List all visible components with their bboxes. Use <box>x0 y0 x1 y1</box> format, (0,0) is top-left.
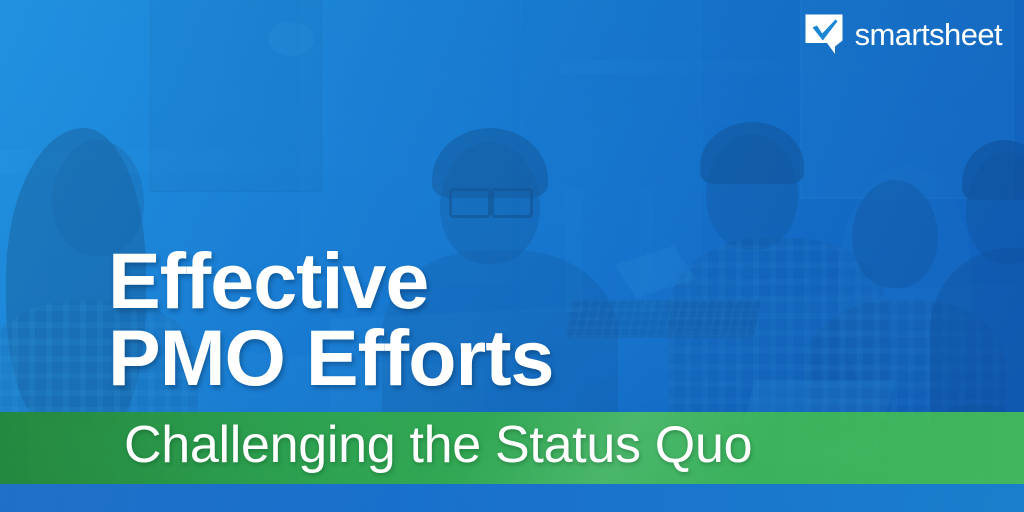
headline-line-2: PMO Efforts <box>108 320 553 397</box>
marketing-banner: smartsheet Effective PMO Efforts Challen… <box>0 0 1024 512</box>
page-subtitle: Challenging the Status Quo <box>124 419 752 471</box>
smartsheet-checkmark-logo-icon <box>804 13 844 55</box>
brand-name: smartsheet <box>855 19 1002 50</box>
footer-band <box>0 484 1024 512</box>
smartsheet-logo[interactable]: smartsheet <box>804 13 1002 55</box>
band-sheen <box>0 484 1024 512</box>
page-title: Effective PMO Efforts <box>108 243 553 396</box>
headline-line-1: Effective <box>108 236 428 325</box>
